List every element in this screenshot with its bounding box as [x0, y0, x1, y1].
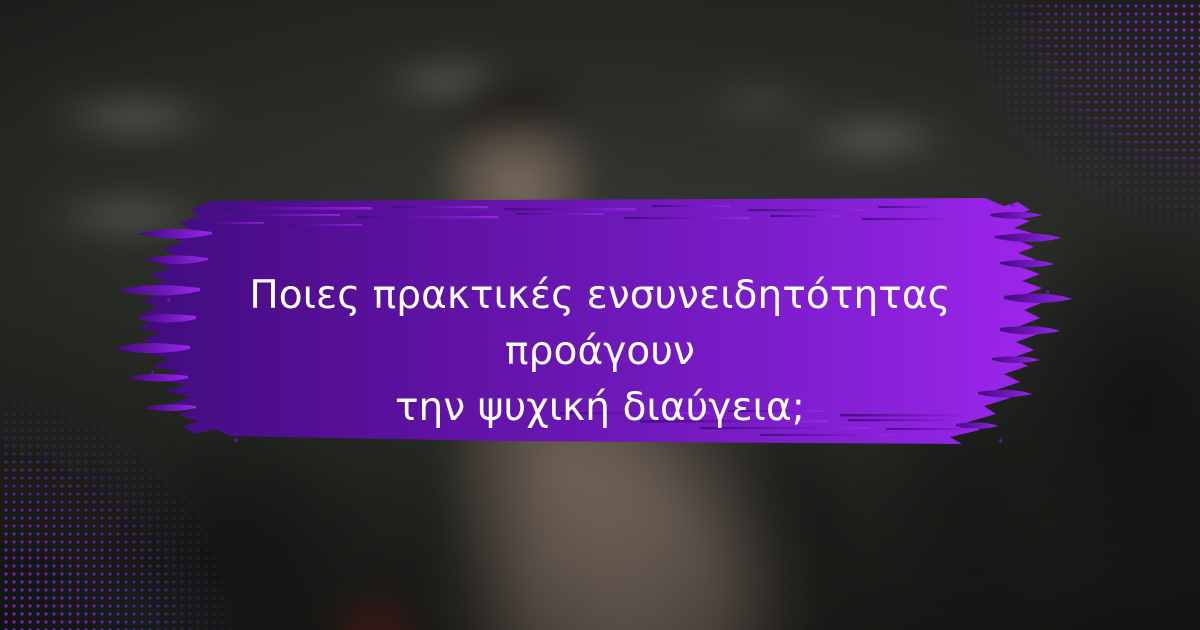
- card-headline: Ποιες πρακτικές ενσυνειδητότητας προάγου…: [0, 268, 1200, 436]
- social-share-card: Ποιες πρακτικές ενσυνειδητότητας προάγου…: [0, 0, 1200, 630]
